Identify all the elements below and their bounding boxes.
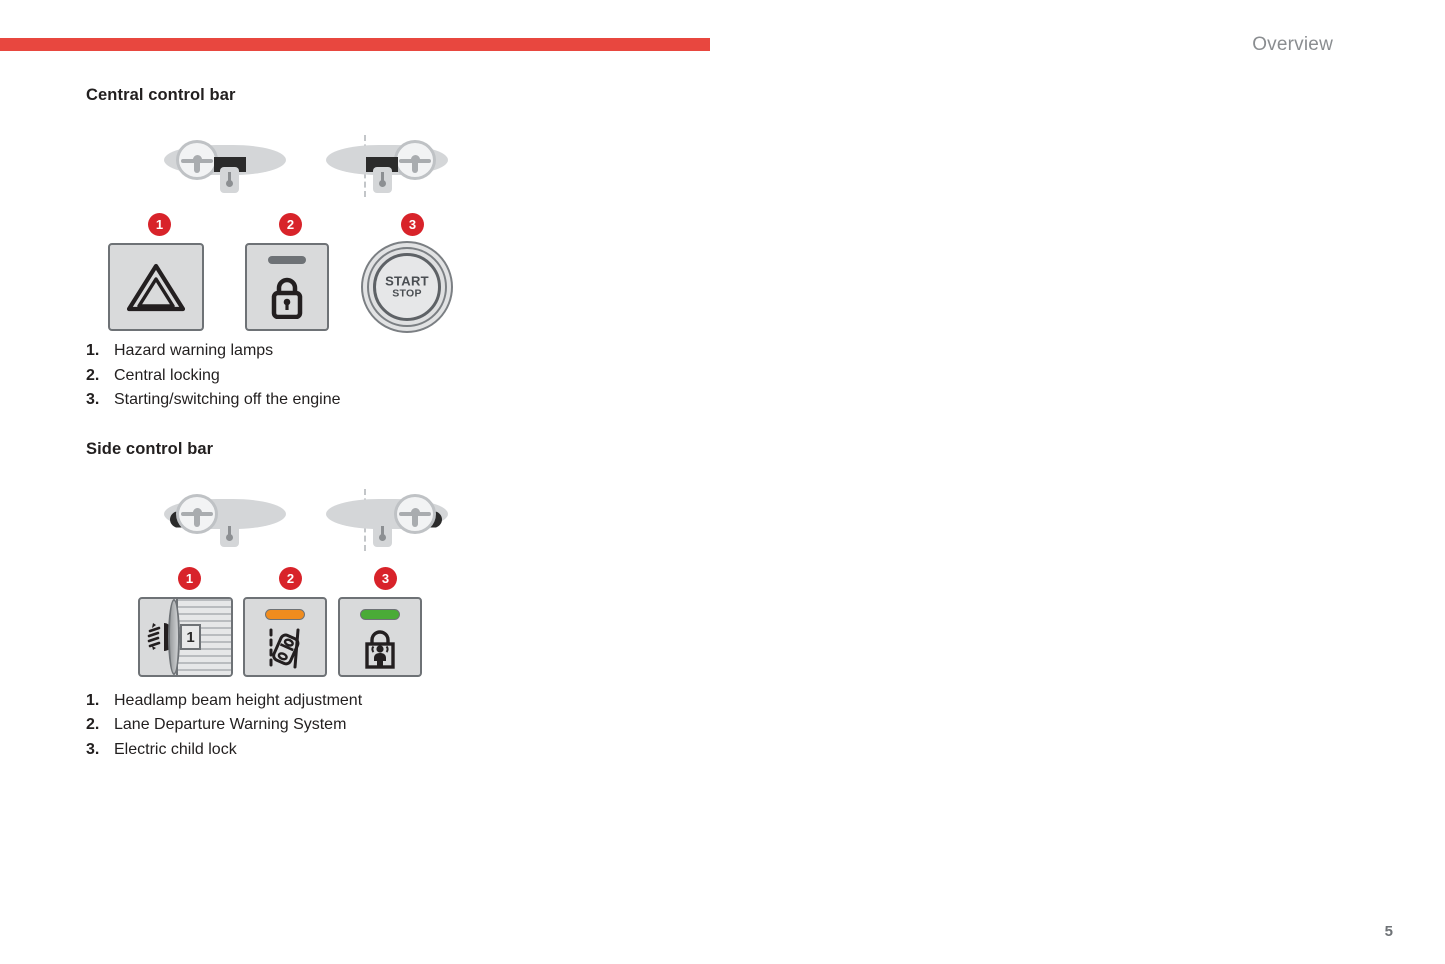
list-item-label: Headlamp beam height adjustment bbox=[114, 692, 362, 709]
list-item-number: 2. bbox=[86, 364, 114, 389]
control-stalk-tab bbox=[220, 167, 239, 193]
section-heading-side-control-bar: Side control bar bbox=[86, 440, 846, 459]
control-stalk-tab bbox=[373, 167, 392, 193]
steering-wheel-icon bbox=[176, 140, 218, 180]
page-content: Central control bar bbox=[86, 86, 846, 762]
thumbwheel-position-value: 1 bbox=[180, 624, 201, 650]
indicator-led bbox=[268, 256, 306, 264]
padlock-icon bbox=[270, 275, 304, 319]
list-item-number: 1. bbox=[86, 339, 114, 364]
caption-list-central: 1.Hazard warning lamps 2.Central locking… bbox=[86, 339, 846, 413]
control-stalk-tab bbox=[373, 521, 392, 547]
control-stalk-tab bbox=[220, 521, 239, 547]
start-text: START bbox=[361, 275, 453, 289]
dashboard-left-hand-drive bbox=[164, 489, 286, 561]
page-number: 5 bbox=[1385, 923, 1393, 940]
list-item-number: 3. bbox=[86, 388, 114, 413]
indicator-led-green bbox=[360, 609, 400, 620]
dashboard-diagram-central bbox=[86, 135, 846, 207]
page-header-title: Overview bbox=[1252, 34, 1333, 56]
dashboard-right-hand-drive bbox=[326, 489, 448, 561]
callout-badge-1: 1 bbox=[178, 567, 201, 590]
list-item: 2.Central locking bbox=[86, 364, 846, 389]
lane-departure-warning-icon bbox=[265, 627, 305, 671]
stop-text: STOP bbox=[361, 288, 453, 299]
list-item: 2.Lane Departure Warning System bbox=[86, 713, 846, 738]
header-accent-rule bbox=[0, 38, 710, 51]
list-item-number: 2. bbox=[86, 713, 114, 738]
section-heading-central-control-bar: Central control bar bbox=[86, 86, 846, 105]
headlamp-thumbwheel[interactable]: 1 bbox=[176, 599, 231, 675]
list-item-number: 3. bbox=[86, 738, 114, 763]
list-item-number: 1. bbox=[86, 689, 114, 714]
lane-departure-warning-button[interactable] bbox=[243, 597, 327, 677]
caption-list-side: 1.Headlamp beam height adjustment 2.Lane… bbox=[86, 689, 846, 763]
dashboard-left-hand-drive bbox=[164, 135, 286, 207]
start-stop-label: START STOP bbox=[361, 275, 453, 300]
callout-badge-2: 2 bbox=[279, 213, 302, 236]
steering-wheel-icon bbox=[394, 140, 436, 180]
callout-badge-3: 3 bbox=[401, 213, 424, 236]
callout-badge-1: 1 bbox=[148, 213, 171, 236]
dashboard-right-hand-drive bbox=[326, 135, 448, 207]
callout-badge-3: 3 bbox=[374, 567, 397, 590]
hazard-warning-triangle-icon bbox=[127, 262, 185, 312]
start-stop-button[interactable]: START STOP bbox=[361, 241, 453, 333]
central-control-buttons: 1 2 3 bbox=[86, 213, 846, 335]
list-item-label: Starting/switching off the engine bbox=[114, 391, 341, 408]
thumbwheel-edge bbox=[168, 599, 180, 675]
callout-badge-2: 2 bbox=[279, 567, 302, 590]
list-item: 3.Electric child lock bbox=[86, 738, 846, 763]
headlamp-beam-adjuster-control[interactable]: 1 bbox=[138, 597, 233, 677]
list-item: 3.Starting/switching off the engine bbox=[86, 388, 846, 413]
list-item-label: Hazard warning lamps bbox=[114, 342, 273, 359]
indicator-led-orange bbox=[265, 609, 305, 620]
central-locking-button[interactable] bbox=[245, 243, 329, 331]
list-item-label: Central locking bbox=[114, 367, 220, 384]
hazard-warning-button[interactable] bbox=[108, 243, 204, 331]
list-item: 1.Hazard warning lamps bbox=[86, 339, 846, 364]
side-control-buttons: 1 1 2 bbox=[86, 567, 846, 687]
steering-wheel-icon bbox=[176, 494, 218, 534]
list-item-label: Lane Departure Warning System bbox=[114, 716, 346, 733]
dashboard-diagram-side bbox=[86, 489, 846, 561]
steering-wheel-icon bbox=[394, 494, 436, 534]
electric-child-lock-icon bbox=[360, 625, 400, 669]
electric-child-lock-button[interactable] bbox=[338, 597, 422, 677]
list-item: 1.Headlamp beam height adjustment bbox=[86, 689, 846, 714]
list-item-label: Electric child lock bbox=[114, 741, 237, 758]
